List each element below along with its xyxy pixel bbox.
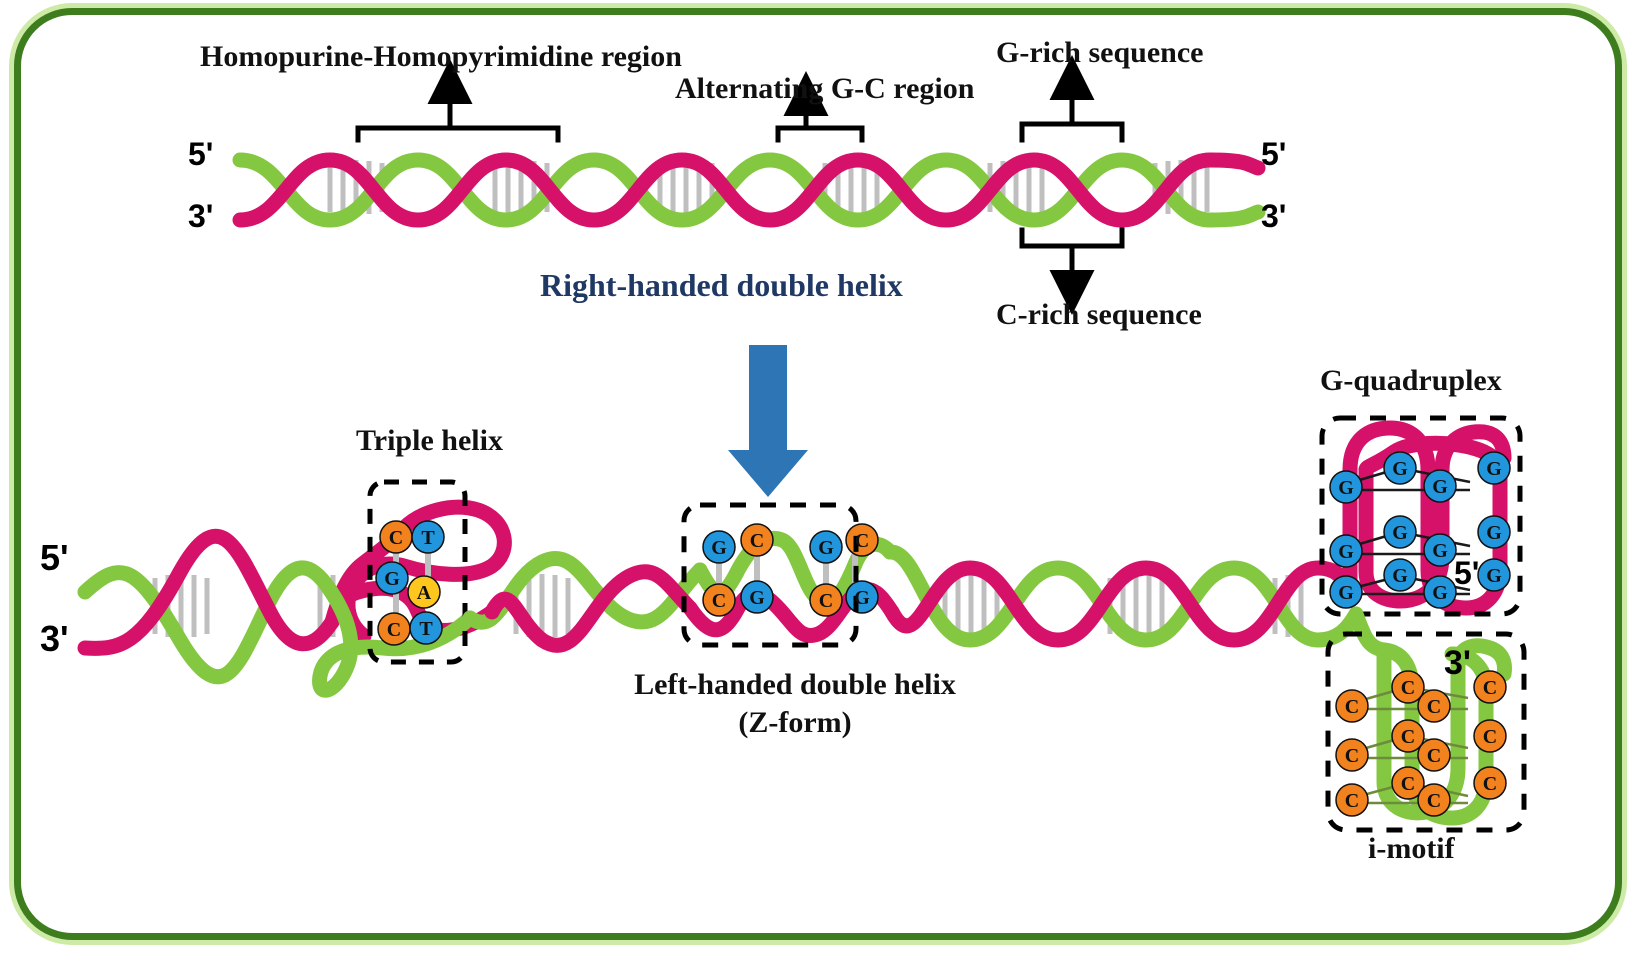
nucleotide-letter: C bbox=[750, 530, 764, 552]
nucleotide-letter: A bbox=[417, 582, 432, 604]
top-right-5-prime-label: 5' bbox=[1261, 136, 1286, 173]
nucleotide-letter: C bbox=[1427, 745, 1441, 767]
top-right-3-prime-label: 3' bbox=[1261, 198, 1286, 235]
nucleotide-letter: C bbox=[1483, 677, 1497, 699]
label-homopurine-homopyrimidine: Homopurine-Homopyrimidine region bbox=[200, 40, 682, 74]
nucleotide-letter: C bbox=[1401, 677, 1415, 699]
nucleotide-letter: G bbox=[1392, 458, 1408, 480]
nucleotide-letter: C bbox=[1483, 773, 1497, 795]
nucleotide-letter: C bbox=[712, 590, 726, 612]
top-left-5-prime-label: 5' bbox=[188, 136, 213, 173]
nucleotide-letter: G bbox=[1392, 522, 1408, 544]
nucleotide-letter: C bbox=[1401, 726, 1415, 748]
nucleotide-letter: G bbox=[1338, 582, 1354, 604]
nucleotide-letter: G bbox=[1486, 458, 1502, 480]
nucleotide-letter: C bbox=[1345, 696, 1359, 718]
top-double-helix bbox=[240, 160, 1258, 220]
nucleotide-letter: C bbox=[1401, 773, 1415, 795]
label-g-rich-sequence: G-rich sequence bbox=[996, 36, 1203, 70]
label-i-motif: i-motif bbox=[1368, 832, 1455, 866]
label-z-form: (Z-form) bbox=[600, 706, 990, 740]
bottom-left-helix bbox=[85, 536, 333, 676]
nucleotide-letter: G bbox=[1486, 522, 1502, 544]
figure-canvas: C T G A C T G C G C C G C G G G G G G G … bbox=[0, 0, 1650, 961]
nucleotide-letter: G bbox=[1392, 565, 1408, 587]
label-left-handed-double-helix: Left-handed double helix bbox=[600, 668, 990, 702]
nucleotide-letter: G bbox=[1432, 540, 1448, 562]
nucleotide-letter: C bbox=[1483, 726, 1497, 748]
nucleotide-letter: G bbox=[384, 568, 400, 590]
label-c-rich-sequence: C-rich sequence bbox=[996, 298, 1202, 332]
nucleotide-letter: G bbox=[711, 537, 727, 559]
z-form-structure bbox=[684, 505, 892, 645]
bottom-left-3-prime-label: 3' bbox=[40, 618, 69, 660]
nucleotide-letter: G bbox=[749, 587, 765, 609]
nucleotide-letter: C bbox=[1427, 790, 1441, 812]
nucleotide-letter: C bbox=[1345, 745, 1359, 767]
nucleotide-letter: C bbox=[1427, 696, 1441, 718]
caption-right-handed-double-helix: Right-handed double helix bbox=[540, 268, 903, 304]
bottom-mid-helix-1 bbox=[470, 558, 700, 645]
triple-helix-structure bbox=[320, 482, 505, 690]
nucleotide-letter: C bbox=[855, 530, 869, 552]
nucleotide-letter: G bbox=[1432, 582, 1448, 604]
nucleotide-letter: G bbox=[818, 537, 834, 559]
bottom-right-helix bbox=[890, 552, 1356, 640]
nucleotide-letter: C bbox=[1345, 790, 1359, 812]
nucleotide-letter: C bbox=[389, 527, 403, 549]
bracket-homopurine bbox=[358, 128, 558, 140]
label-alternating-gc-region: Alternating G-C region bbox=[675, 72, 974, 106]
transition-arrow bbox=[728, 345, 808, 497]
nucleotide-letter: G bbox=[1432, 476, 1448, 498]
nucleotide-letter: G bbox=[854, 587, 870, 609]
dna-structures-illustration: C T G A C T G C G C C G C G G G G G G G … bbox=[0, 0, 1650, 961]
nucleotide-letter: C bbox=[387, 619, 401, 641]
label-triple-helix: Triple helix bbox=[356, 424, 503, 458]
nucleotide-letter: T bbox=[421, 527, 435, 549]
nucleotide-letter: G bbox=[1486, 565, 1502, 587]
nucleotide-letter: C bbox=[819, 590, 833, 612]
nucleotide-letter: T bbox=[419, 618, 433, 640]
blue-down-arrow bbox=[728, 345, 808, 497]
i-motif-3-prime-label: 3' bbox=[1444, 644, 1471, 683]
label-g-quadruplex: G-quadruplex bbox=[1320, 364, 1502, 398]
bottom-left-5-prime-label: 5' bbox=[40, 537, 69, 579]
nucleotide-letter: G bbox=[1338, 477, 1354, 499]
nucleotide-letter: G bbox=[1338, 541, 1354, 563]
i-motif-nucleotides bbox=[1336, 671, 1506, 816]
top-left-3-prime-label: 3' bbox=[188, 198, 213, 235]
g-quadruplex-5-prime-label: 5' bbox=[1454, 555, 1479, 592]
bracket-alternating-gc bbox=[778, 128, 862, 140]
